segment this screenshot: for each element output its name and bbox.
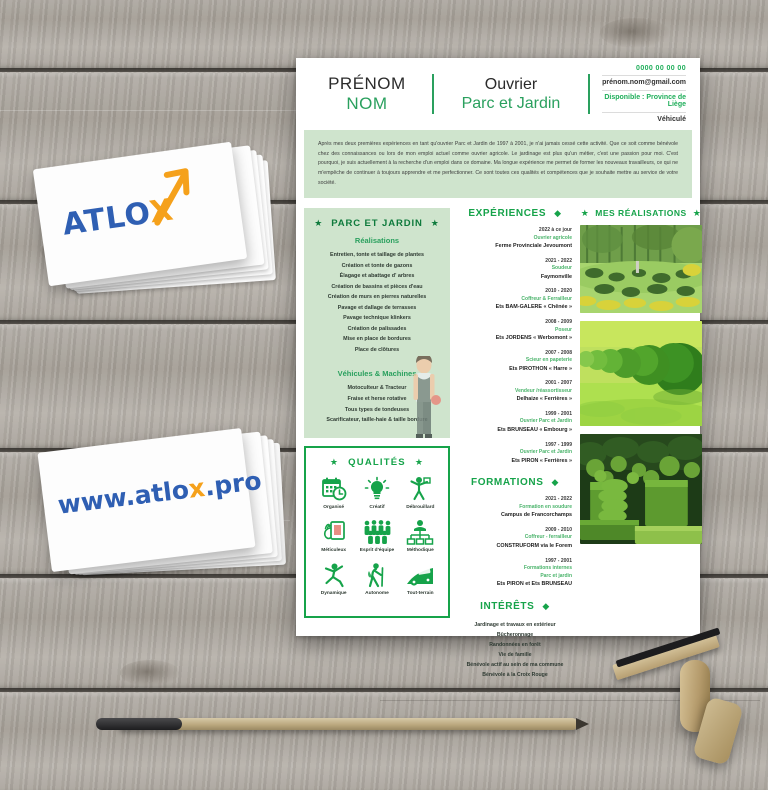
quality-item: Débrouillard xyxy=(399,476,442,510)
formation-role: Formations internes xyxy=(456,565,572,573)
formation-org: Ets PIRON et Ets BRUNSEAU xyxy=(456,580,572,589)
formation-item: 1997 - 2001 Formations internes Parc et … xyxy=(456,558,574,589)
realisations-title: ★ MES RÉALISATIONS ★ xyxy=(580,208,702,218)
experience-item: 1999 - 2001 Ouvrier Parc et Jardin Ets B… xyxy=(456,411,574,435)
person-org-chart-icon xyxy=(406,519,434,545)
skill-item: Création et tonte de gazons xyxy=(310,261,444,272)
skill-item: Élagage et abattage d' arbres xyxy=(310,271,444,282)
quality-label: Méthodique xyxy=(399,548,442,553)
formation-item: 2021 - 2022 Formation en soudure Campus … xyxy=(456,496,574,520)
job-title-line2: Parc et Jardin xyxy=(446,94,576,113)
experience-item: 2008 - 2009 Poseur Ets JORDENS « Werbomo… xyxy=(456,319,574,343)
formations-title-text: FORMATIONS xyxy=(471,477,543,488)
formation-years: 1997 - 2001 xyxy=(456,558,572,566)
person-arms-up-icon xyxy=(407,476,433,502)
experience-years: 2007 - 2008 xyxy=(456,350,572,358)
experience-years: 2008 - 2009 xyxy=(456,319,572,327)
qualities-box: ★ QUALITÉS ★ xyxy=(304,446,450,618)
interest-item: Randonnées en forêt xyxy=(456,640,574,650)
skills-panel: ★ PARC ET JARDIN ★ Réalisations Entretie… xyxy=(304,208,450,438)
scene-background: ATLOX www.atlox.pro PRÉNOM NOM xyxy=(0,0,768,790)
wood-grain xyxy=(0,110,300,111)
experience-role: Vendeur /réassortisseur xyxy=(456,388,572,396)
skill-item: Entretien, tonte et taillage de plantes xyxy=(310,250,444,261)
experience-item: 1997 - 1999 Ouvrier Parc et Jardin Ets P… xyxy=(456,442,574,466)
wood-knot xyxy=(120,660,180,686)
column-realisations: ★ MES RÉALISATIONS ★ xyxy=(580,208,702,680)
experience-years: 2022 à ce jour xyxy=(456,227,572,235)
cv-header: PRÉNOM NOM Ouvrier Parc et Jardin 0000 0… xyxy=(296,58,700,130)
name-block: PRÉNOM NOM xyxy=(314,74,420,113)
experience-item: 2021 - 2022 Soudeur Faymonville xyxy=(456,258,574,282)
formations-title: FORMATIONS ◆ xyxy=(456,477,574,488)
experience-years: 2001 - 2007 xyxy=(456,380,572,388)
header-divider xyxy=(588,74,590,114)
experience-org: Ferme Provinciale Jevoumont xyxy=(456,242,572,251)
quality-item: Autonome xyxy=(355,562,398,596)
photo-hedge-topiary-image xyxy=(580,321,702,426)
skill-item: Place de clôtures xyxy=(310,345,444,356)
job-title-line1: Ouvrier xyxy=(446,75,576,94)
quality-item: Méthodique xyxy=(399,519,442,553)
first-name: PRÉNOM xyxy=(314,74,420,94)
skill-item: Mise en place de bordures xyxy=(310,334,444,345)
gardener-illustration xyxy=(396,356,450,438)
qualities-grid: Organisé xyxy=(312,476,442,596)
job-title-block: Ouvrier Parc et Jardin xyxy=(446,75,576,113)
formation-role-2: Parc et jardin xyxy=(456,573,572,581)
photo-topiary-garden-image xyxy=(580,434,702,544)
experience-years: 1999 - 2001 xyxy=(456,411,572,419)
skill-item: Pavage et dallage de terrasses xyxy=(310,303,444,314)
diamond-icon: ◆ xyxy=(554,208,562,219)
column-skills: ★ PARC ET JARDIN ★ Réalisations Entretie… xyxy=(304,208,450,680)
experience-org: Ets BRUNSEAU « Embourg » xyxy=(456,426,572,435)
team-group-icon xyxy=(362,519,392,545)
quality-label: Tout-terrain xyxy=(399,591,442,596)
experience-org: Delhaize « Ferrières » xyxy=(456,395,572,404)
quality-item: Créatif xyxy=(355,476,398,510)
lightbulb-icon xyxy=(364,476,390,502)
qualities-title: ★ QUALITÉS ★ xyxy=(312,457,442,468)
experiences-title: EXPÉRIENCES ◆ xyxy=(456,208,574,219)
experience-role: Ouvrier Parc et Jardin xyxy=(456,449,572,457)
skills-sub1: Réalisations xyxy=(310,236,444,245)
quality-label: Autonome xyxy=(355,591,398,596)
interest-item: Bûcheronnage xyxy=(456,630,574,640)
contact-email: prénom.nom@gmail.com xyxy=(602,75,686,89)
cv-body: ★ PARC ET JARDIN ★ Réalisations Entretie… xyxy=(296,208,700,688)
experience-role: Poseur xyxy=(456,327,572,335)
qualities-title-text: QUALITÉS xyxy=(348,457,406,468)
contact-availability: Disponible : Province de Liège xyxy=(602,90,686,112)
formation-org: CONSTRUFORM via le Forem xyxy=(456,542,572,551)
quality-item: Organisé xyxy=(312,476,355,510)
star-icon: ★ xyxy=(314,219,323,228)
stick-shaft xyxy=(118,718,578,730)
skill-item: Création de palissades xyxy=(310,324,444,335)
formation-years: 2009 - 2010 xyxy=(456,527,572,535)
experience-org: Faymonville xyxy=(456,273,572,282)
photo-garden-beds xyxy=(580,225,702,313)
experience-role: Scieur en papeterie xyxy=(456,357,572,365)
star-icon: ★ xyxy=(330,458,339,467)
column-experiences: EXPÉRIENCES ◆ 2022 à ce jour Ouvrier agr… xyxy=(456,208,574,680)
photo-hedge-topiary xyxy=(580,321,702,426)
experience-role: Coffreur & Ferrailleur xyxy=(456,296,572,304)
quality-label: Esprit d'équipe xyxy=(355,548,398,553)
experience-org: Ets BAM-GALERE « Chênée » xyxy=(456,303,572,312)
interest-item: Jardinage et travaux en extérieur xyxy=(456,620,574,630)
hiker-icon xyxy=(364,562,390,588)
person-jumping-icon xyxy=(321,562,347,588)
experience-years: 2010 - 2020 xyxy=(456,288,572,296)
contact-phone: 0000 00 00 00 xyxy=(602,65,686,75)
header-divider xyxy=(432,74,434,114)
quality-item: Méticuleux xyxy=(312,519,355,553)
card-sheet-front: www.atlox.pro xyxy=(37,428,255,572)
interest-item: Bénévole actif au sein de ma commune xyxy=(456,660,574,670)
wood-knot xyxy=(600,18,670,48)
interests-list: Jardinage et travaux en extérieur Bûcher… xyxy=(456,620,574,681)
experience-org: Ets JORDENS « Werbomont » xyxy=(456,334,572,343)
diamond-icon: ◆ xyxy=(542,601,550,612)
star-icon: ★ xyxy=(431,219,440,228)
interest-item: Bénévole à la Croix Rouge xyxy=(456,670,574,680)
star-icon: ★ xyxy=(581,209,590,218)
quality-item: Tout-terrain xyxy=(399,562,442,596)
formation-role: Coffreur - ferrailleur xyxy=(456,534,572,542)
last-name: NOM xyxy=(314,94,420,114)
star-icon: ★ xyxy=(693,209,702,218)
quality-item: Dynamique xyxy=(312,562,355,596)
formation-role: Formation en soudure xyxy=(456,504,572,512)
offroad-vehicle-icon xyxy=(405,562,435,588)
experience-org: Ets PIRON « Ferrières » xyxy=(456,457,572,466)
hand-clipboard-icon xyxy=(321,519,347,545)
experience-role: Ouvrier Parc et Jardin xyxy=(456,418,572,426)
experience-role: Soudeur xyxy=(456,265,572,273)
experience-role: Ouvrier agricole xyxy=(456,235,572,243)
quality-label: Méticuleux xyxy=(312,548,355,553)
formation-item: 2009 - 2010 Coffreur - ferrailleur CONST… xyxy=(456,527,574,551)
quality-label: Débrouillard xyxy=(399,505,442,510)
skills-title: ★ PARC ET JARDIN ★ xyxy=(310,218,444,229)
arrow-up-right-icon xyxy=(132,165,199,229)
skills-title-text: PARC ET JARDIN xyxy=(331,218,423,229)
experience-org: Ets PIROTHON « Harre » xyxy=(456,365,572,374)
experiences-title-text: EXPÉRIENCES xyxy=(468,208,546,219)
atlox-url: www.atlox.pro xyxy=(56,466,263,520)
interests-title: INTÉRÊTS ◆ xyxy=(456,601,574,612)
contact-vehicle: Véhiculé xyxy=(602,112,686,123)
star-icon: ★ xyxy=(415,458,424,467)
atlox-url-prefix: www.atlo xyxy=(56,475,190,520)
wood-plank xyxy=(0,692,768,790)
realisations-title-text: MES RÉALISATIONS xyxy=(595,208,686,218)
experience-item: 2001 - 2007 Vendeur /réassortisseur Delh… xyxy=(456,380,574,404)
quality-item: Esprit d'équipe xyxy=(355,519,398,553)
calendar-clock-icon xyxy=(321,476,347,502)
formation-years: 2021 - 2022 xyxy=(456,496,572,504)
experience-years: 1997 - 1999 xyxy=(456,442,572,450)
skill-item: Pavage technique klinkers xyxy=(310,313,444,324)
stick-tip xyxy=(576,718,589,730)
photo-topiary-garden xyxy=(580,434,702,544)
diamond-icon: ◆ xyxy=(551,477,559,488)
experience-item: 2010 - 2020 Coffreur & Ferrailleur Ets B… xyxy=(456,288,574,312)
skill-item: Création de bassins et pièces d'eau xyxy=(310,282,444,293)
intro-paragraph: Après mes deux premières expériences en … xyxy=(304,130,692,198)
cv-document: PRÉNOM NOM Ouvrier Parc et Jardin 0000 0… xyxy=(296,58,700,636)
formation-org: Campus de Francorchamps xyxy=(456,511,572,520)
stick-end-cap xyxy=(96,718,182,730)
experience-item: 2022 à ce jour Ouvrier agricole Ferme Pr… xyxy=(456,227,574,251)
quality-label: Dynamique xyxy=(312,591,355,596)
experience-item: 2007 - 2008 Scieur en papeterie Ets PIRO… xyxy=(456,350,574,374)
photo-garden-beds-image xyxy=(580,225,702,313)
skill-item: Création de murs en pierres naturelles xyxy=(310,292,444,303)
interests-title-text: INTÉRÊTS xyxy=(480,601,534,612)
quality-label: Créatif xyxy=(355,505,398,510)
experience-years: 2021 - 2022 xyxy=(456,258,572,266)
contact-block: 0000 00 00 00 prénom.nom@gmail.com Dispo… xyxy=(602,65,686,123)
quality-label: Organisé xyxy=(312,505,355,510)
interest-item: Vie de famille xyxy=(456,650,574,660)
